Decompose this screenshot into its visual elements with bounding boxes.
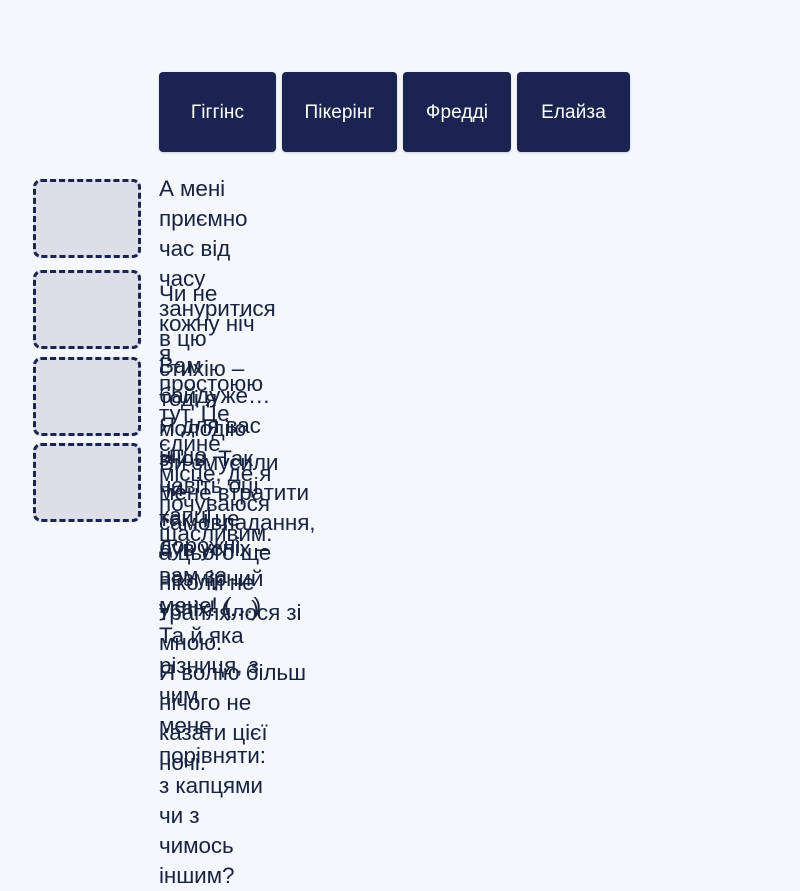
answer-tile-pickering[interactable]: Пікерінг [282,72,397,152]
answer-tile-freddy[interactable]: Фредді [403,72,511,152]
answer-tile-label: Гіггінс [191,103,244,122]
drop-zone-2[interactable] [33,270,141,349]
answer-tile-eliza[interactable]: Елайза [517,72,630,152]
quote-text-4: Ви змусили мене втратити самовладання, а… [159,448,315,778]
answer-tile-higgins[interactable]: Гіггінс [159,72,276,152]
drop-zone-3[interactable] [33,357,141,436]
answer-tile-tray: Гіггінс Пікерінг Фредді Елайза [159,72,630,152]
answer-tile-label: Фредді [426,103,488,122]
drop-zone-4[interactable] [33,443,141,522]
answer-tile-label: Пікерінг [305,103,375,122]
matching-exercise-stage: Гіггінс Пікерінг Фредді Елайза А мені пр… [0,0,800,600]
answer-tile-label: Елайза [541,103,606,122]
drop-zone-1[interactable] [33,179,141,258]
